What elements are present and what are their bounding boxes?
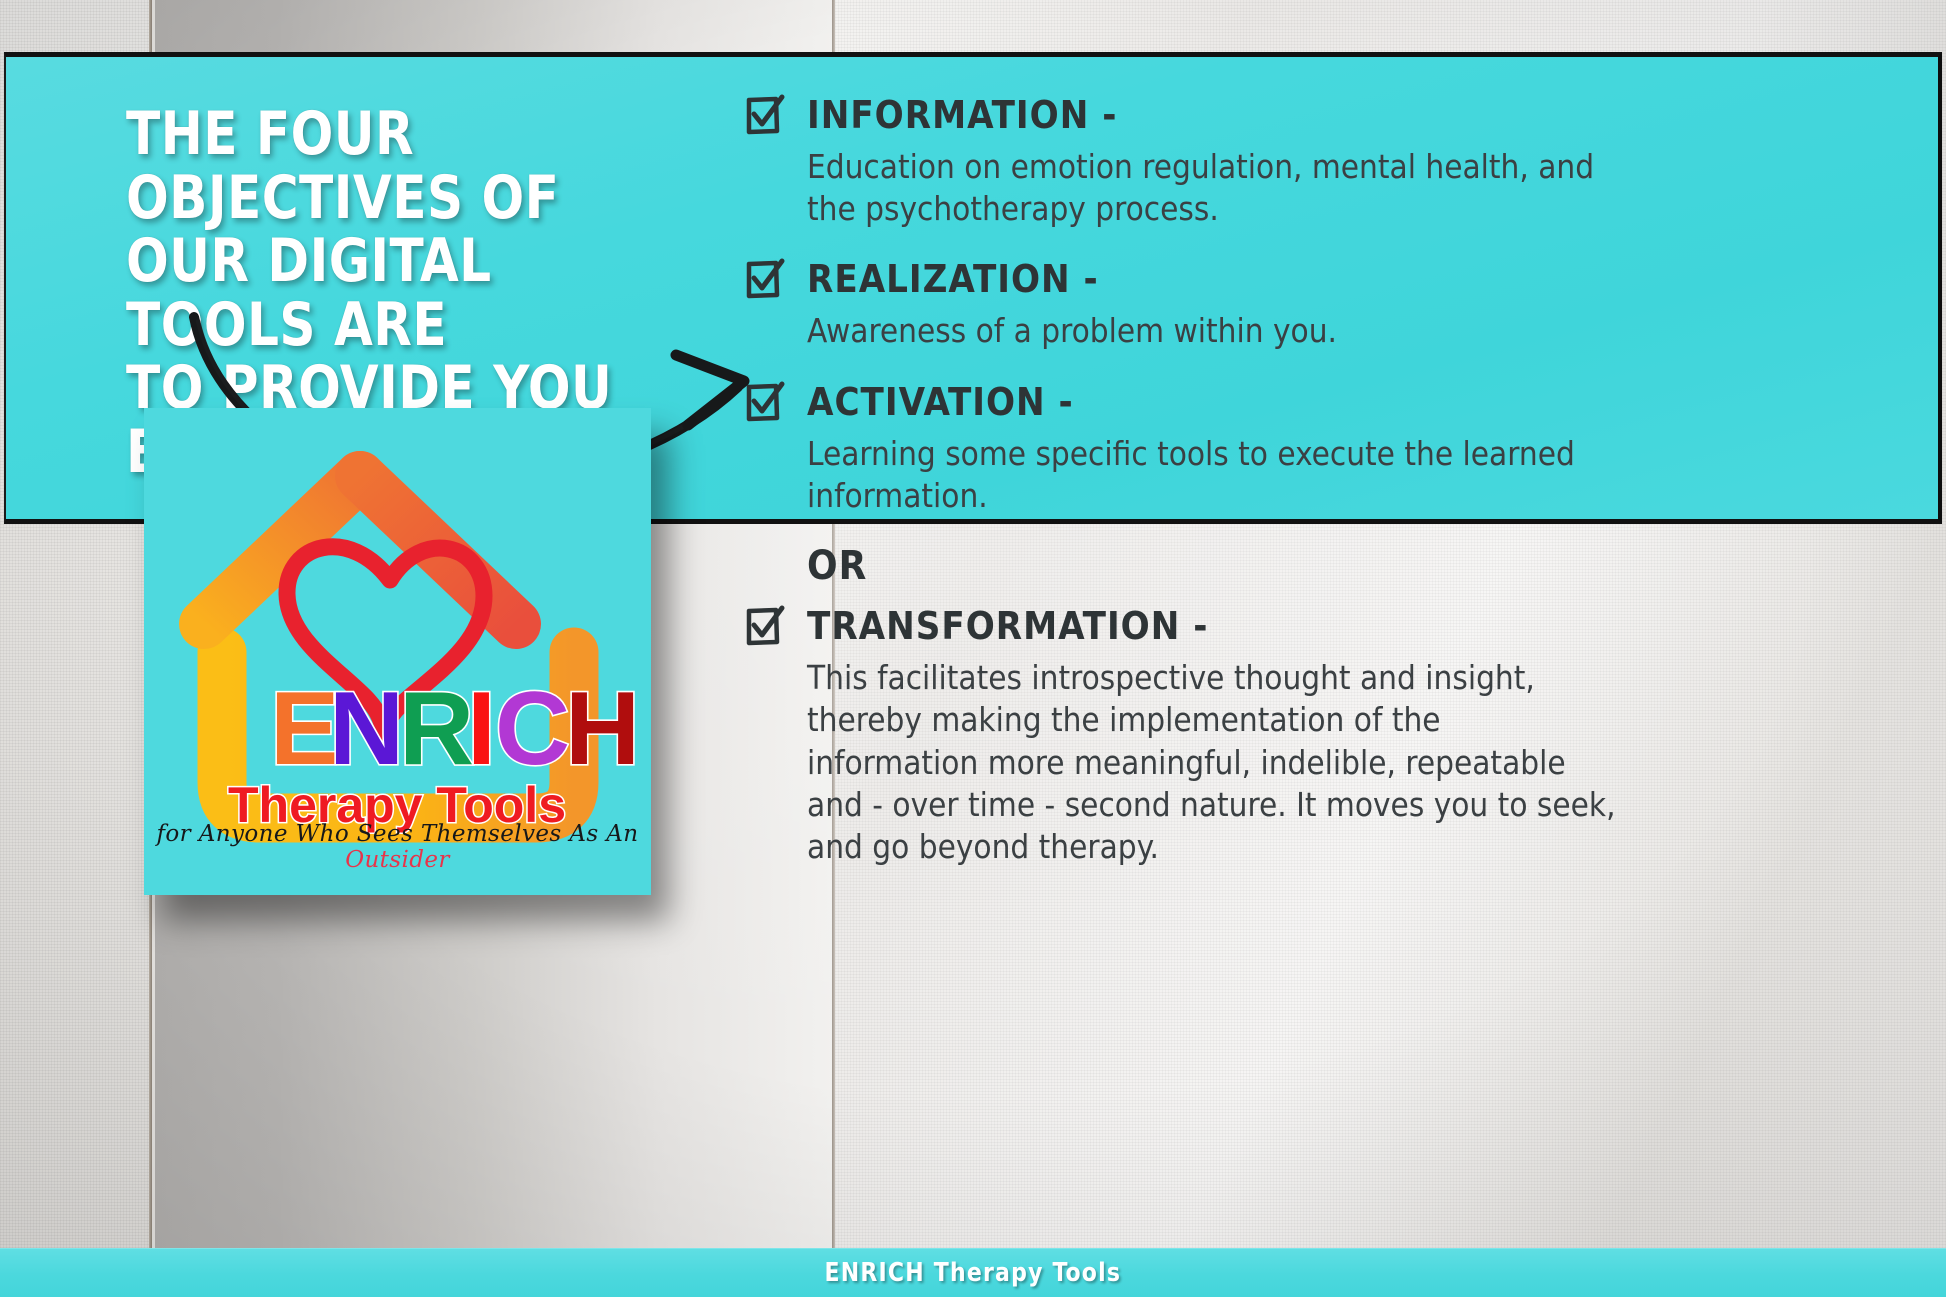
brand-letter-h: H	[565, 671, 640, 787]
objective-title: ACTIVATION -	[807, 379, 1074, 423]
objective-title: REALIZATION -	[807, 256, 1099, 300]
tagline-prefix: for Anyone Who Sees Themselves As An	[157, 821, 639, 847]
brand-wordmark: E N R I C H	[270, 671, 640, 787]
objective-item-transformation: TRANSFORMATION - This facilitates intros…	[745, 603, 1875, 868]
objectives-list: INFORMATION - Education on emotion regul…	[745, 92, 1875, 894]
checkbox-checked-icon[interactable]	[745, 258, 785, 300]
brand-letter-n: N	[329, 671, 404, 787]
checkbox-checked-icon[interactable]	[745, 94, 785, 136]
objective-header: TRANSFORMATION -	[745, 603, 1875, 647]
brand-letter-r: R	[399, 671, 474, 787]
checkbox-checked-icon[interactable]	[745, 381, 785, 423]
brand-letter-c: C	[495, 671, 570, 787]
footer-bar: ENRICH Therapy Tools	[0, 1248, 1946, 1297]
objective-body: Learning some specific tools to execute …	[807, 433, 1617, 517]
objective-item-activation: ACTIVATION - Learning some specific tool…	[745, 379, 1875, 517]
objective-title: TRANSFORMATION -	[807, 603, 1208, 647]
footer-brand-label: ENRICH Therapy Tools	[825, 1258, 1122, 1288]
objective-body: This facilitates introspective thought a…	[807, 657, 1617, 868]
divider-or-label: OR	[807, 543, 1875, 589]
objective-item-information: INFORMATION - Education on emotion regul…	[745, 92, 1875, 230]
objective-header: INFORMATION -	[745, 92, 1875, 136]
brand-letter-i: I	[467, 671, 496, 787]
objective-item-realization: REALIZATION - Awareness of a problem wit…	[745, 256, 1875, 352]
objective-header: REALIZATION -	[745, 256, 1875, 300]
checkbox-checked-icon[interactable]	[745, 605, 785, 647]
objective-body: Awareness of a problem within you.	[807, 310, 1617, 352]
objective-body: Education on emotion regulation, mental …	[807, 146, 1617, 230]
brand-tagline: for Anyone Who Sees Themselves As An Out…	[144, 821, 651, 873]
objective-title: INFORMATION -	[807, 92, 1117, 136]
infographic-canvas: THE FOUR OBJECTIVES OF OUR DIGITAL TOOLS…	[0, 0, 1946, 1297]
objective-header: ACTIVATION -	[745, 379, 1875, 423]
tagline-highlight: Outsider	[345, 847, 450, 873]
brand-logo-card: E N R I C H Therapy Tools for Anyone Who…	[144, 408, 651, 895]
